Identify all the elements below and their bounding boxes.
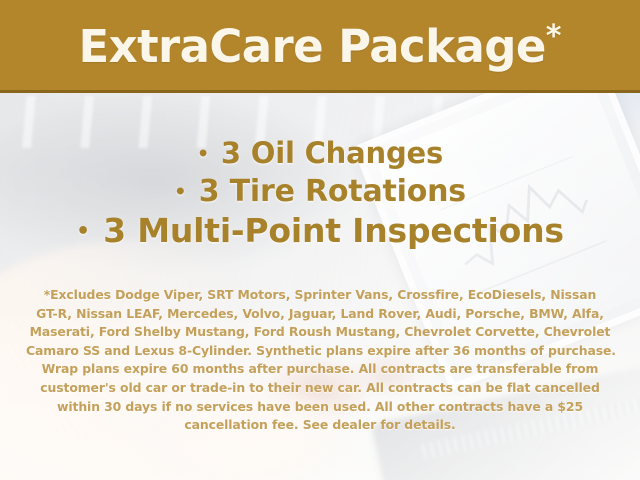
bullet-dot-icon: • [174,180,188,203]
benefit-item-label: 3 Oil Changes [221,136,443,170]
benefit-item-multi-point-inspections: • 3 Multi-Point Inspections [0,214,640,249]
page-title-asterisk: * [546,19,562,54]
disclaimer-line: *Excludes Dodge Viper, SRT Motors, Sprin… [26,286,614,305]
benefit-item-label: 3 Multi-Point Inspections [103,211,564,250]
page-title: ExtraCare Package* [79,22,562,69]
benefits-list: • 3 Oil Changes • 3 Tire Rotations • 3 M… [0,138,640,249]
benefit-item-oil-changes: • 3 Oil Changes [0,138,640,169]
benefit-item-label: 3 Tire Rotations [199,174,466,209]
disclaimer-line: GT-R, Nissan LEAF, Mercedes, Volvo, Jagu… [26,305,614,324]
disclaimer-line: Wrap plans expire 60 months after purcha… [26,360,614,379]
bullet-dot-icon: • [76,219,92,244]
disclaimer-line: within 30 days if no services have been … [26,398,614,417]
disclaimer-line: Maserati, Ford Shelby Mustang, Ford Rous… [26,323,614,342]
page-title-text: ExtraCare Package [79,20,546,73]
bullet-dot-icon: • [197,142,211,165]
header-band: ExtraCare Package* [0,0,640,93]
disclaimer-line: cancellation fee. See dealer for details… [26,416,614,435]
disclaimer-fine-print: *Excludes Dodge Viper, SRT Motors, Sprin… [26,286,614,435]
extracare-package-ad: ExtraCare Package* • 3 Oil Changes • 3 T… [0,0,640,480]
benefit-item-tire-rotations: • 3 Tire Rotations [0,176,640,208]
disclaimer-line: customer's old car or trade-in to their … [26,379,614,398]
disclaimer-line: Camaro SS and Lexus 8-Cylinder. Syntheti… [26,342,614,361]
